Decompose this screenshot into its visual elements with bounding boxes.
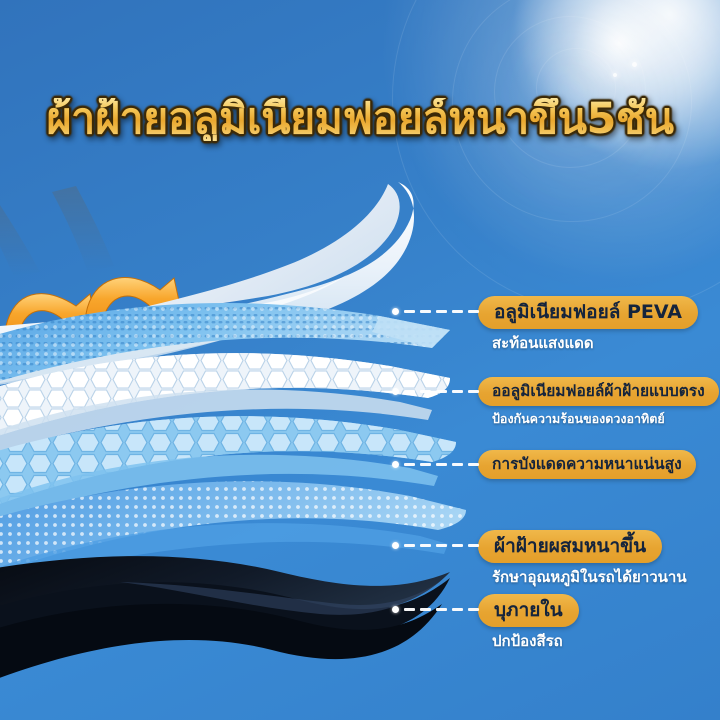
leader-dash [420,310,431,313]
leader-dot-icon [392,606,399,613]
leader-dash [452,310,463,313]
leader-dash [420,544,431,547]
leader-dash [452,463,463,466]
leader-line-2 [392,388,479,395]
leader-dot-icon [392,542,399,549]
leader-dash [468,608,479,611]
leader-dot-icon [392,461,399,468]
leader-dash [436,544,447,547]
callout-layer-2: ออลูมิเนียมฟอยล์ผ้าฝ้ายแบบตรง ป้องกันควา… [392,377,719,426]
leader-line-3 [392,461,479,468]
leader-dash [404,390,415,393]
callout-pill-layer-2[interactable]: ออลูมิเนียมฟอยล์ผ้าฝ้ายแบบตรง [478,377,719,406]
lens-flare-dot-b [613,73,617,77]
leader-dash [452,608,463,611]
callout-layer-4: ผ้าฝ้ายผสมหนาขึ้น รักษาอุณหภูมิในรถได้ยา… [392,530,687,586]
callout-pill-layer-3[interactable]: การบังแดดความหนาแน่นสูง [478,450,696,479]
leader-dash [404,310,415,313]
callout-sub-layer-1: สะท้อนแสงแดด [478,334,698,352]
leader-dash [420,463,431,466]
leader-dash [404,608,415,611]
lens-flare-ring-medium [494,16,646,168]
callout-layer-3: การบังแดดความหนาแน่นสูง [392,450,696,479]
leader-dash [404,463,415,466]
layer-black-inner-lining [0,556,450,702]
leader-dot-icon [392,308,399,315]
leader-line-4 [392,542,479,549]
leader-dash [404,544,415,547]
leader-line-5 [392,606,479,613]
callout-layer-1: อลูมิเนียมฟอยล์ PEVA สะท้อนแสงแดด [392,296,698,352]
callout-pill-layer-1[interactable]: อลูมิเนียมฟอยล์ PEVA [478,296,698,329]
leader-dash [468,390,479,393]
leader-dash [436,463,447,466]
leader-line-1 [392,308,479,315]
callout-sub-layer-5: ปกป้องสีรถ [478,632,579,650]
lens-flare-dot-a [632,62,637,67]
callout-sub-layer-4: รักษาอุณหภูมิในรถได้ยาวนาน [478,568,687,586]
callout-sub-layer-2: ป้องกันความร้อนของดวงอาทิตย์ [478,411,719,426]
leader-dash [452,390,463,393]
leader-dash [436,608,447,611]
leader-dash [436,310,447,313]
callout-pill-layer-5[interactable]: บุภายใน [478,594,579,627]
poster-title-wrap: ผ้าฝ้ายอลูมิเนียมฟอยล์หนาขึ้น5ชั้น [0,98,720,141]
callout-pill-layer-4[interactable]: ผ้าฝ้ายผสมหนาขึ้น [478,530,662,563]
leader-dash [468,463,479,466]
leader-dash [468,544,479,547]
leader-dot-icon [392,388,399,395]
leader-dash [468,310,479,313]
heat-haze [0,186,114,276]
leader-dash [420,608,431,611]
product-infographic-poster: ผ้าฝ้ายอลูมิเนียมฟอยล์หนาขึ้น5ชั้น [0,0,720,720]
leader-dash [420,390,431,393]
leader-dash [452,544,463,547]
leader-dash [436,390,447,393]
page-title: ผ้าฝ้ายอลูมิเนียมฟอยล์หนาขึ้น5ชั้น [46,98,673,141]
callout-layer-5: บุภายใน ปกป้องสีรถ [392,594,579,650]
